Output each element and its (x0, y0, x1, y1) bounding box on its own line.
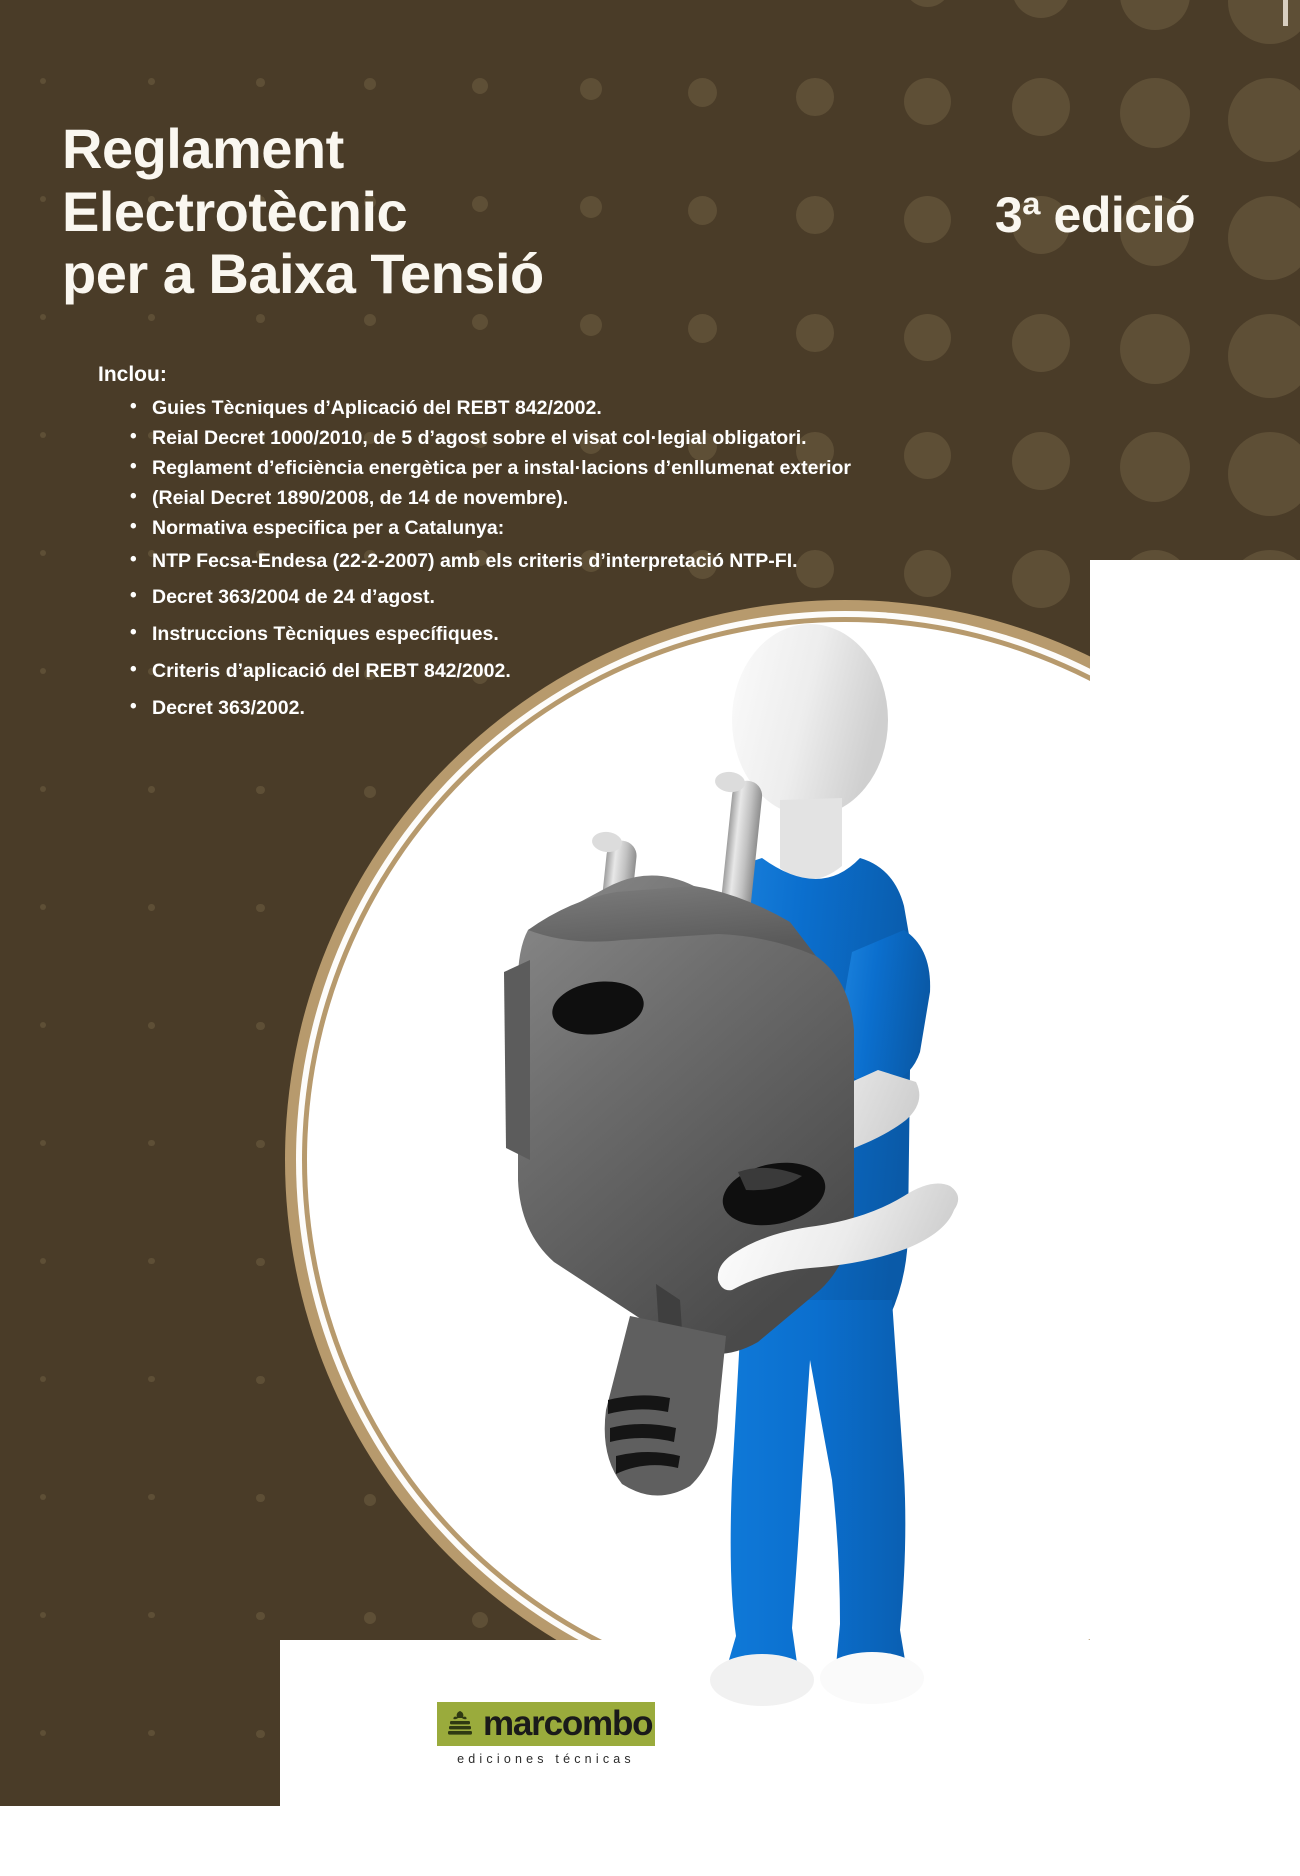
list-item: Reial Decret 1000/2010, de 5 d’agost sob… (130, 425, 1098, 452)
list-item: Instruccions Tècniques específiques. (130, 621, 1098, 648)
includes-label: Inclou: (98, 363, 1098, 387)
publisher-tagline: ediciones técnicas (437, 1752, 655, 1766)
top-edge-mark (1283, 0, 1288, 26)
list-item-continuation: (Reial Decret 1890/2008, de 14 de novemb… (130, 485, 1098, 512)
publisher-name: marcombo (483, 1702, 655, 1746)
list-item: NTP Fecsa-Endesa (22-2-2007) amb els cri… (130, 548, 1098, 575)
title-line-3: per a Baixa Tensió (62, 243, 762, 306)
book-cover: Reglament Electrotècnic per a Baixa Tens… (0, 0, 1300, 1876)
title-line-1: Reglament (62, 118, 762, 181)
includes-block: Inclou: Guies Tècniques d’Aplicació del … (98, 363, 1098, 732)
edition-label: 3ª edició (740, 186, 1195, 244)
list-item: Decret 363/2004 de 24 d’agost. (130, 584, 1098, 611)
list-item: Criteris d’aplicació del REBT 842/2002. (130, 658, 1098, 685)
dot-column (796, 0, 834, 1806)
dot-column (1012, 0, 1070, 1806)
list-item: Reglament d’eficiència energètica per a … (130, 455, 1098, 482)
publisher-logo: marcombo ediciones técnicas (437, 1702, 655, 1766)
list-item: Normativa especifica per a Catalunya: (130, 515, 1098, 542)
dot-column (904, 0, 951, 1806)
bottom-white-strip (0, 1806, 1300, 1876)
includes-sublist: NTP Fecsa-Endesa (22-2-2007) amb els cri… (98, 548, 1098, 723)
title-line-2: Electrotècnic (62, 181, 762, 244)
logo-badge: marcombo (437, 1702, 655, 1746)
book-crest-icon (437, 1702, 483, 1746)
page-title: Reglament Electrotècnic per a Baixa Tens… (62, 118, 762, 306)
dot-column (40, 0, 46, 1806)
list-item: Decret 363/2002. (130, 695, 1098, 722)
includes-list: Guies Tècniques d’Aplicació del REBT 842… (98, 395, 1098, 542)
list-item: Guies Tècniques d’Aplicació del REBT 842… (130, 395, 1098, 422)
